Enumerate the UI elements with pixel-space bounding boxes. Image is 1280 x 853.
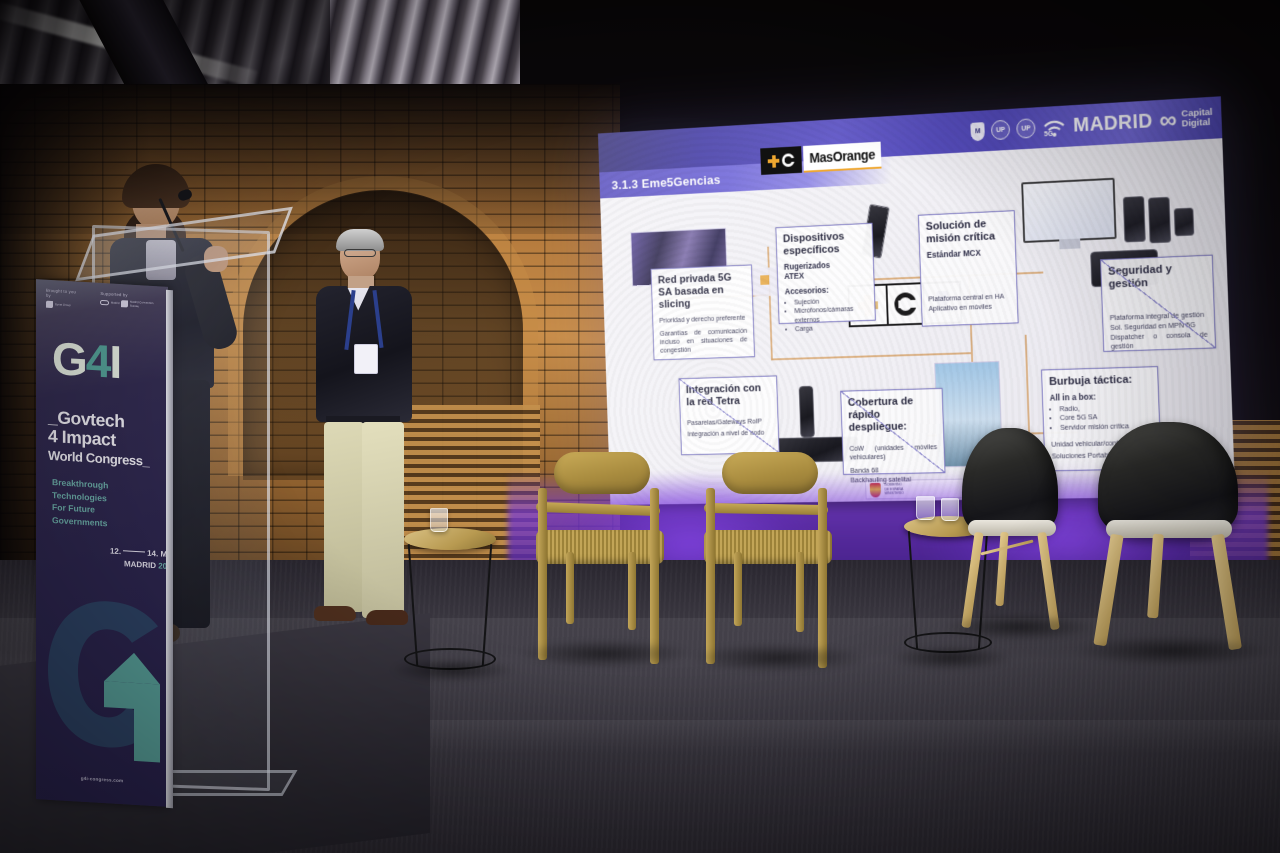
box-mision-critica: Solución de misión crítica Estándar MCX … [918, 210, 1019, 327]
box-title: Cobertura de rápido despliegue: [848, 395, 937, 435]
date-dash [123, 550, 145, 552]
handset-image-1 [1123, 196, 1146, 242]
badge [354, 344, 378, 374]
box-body-3: Dispatcher o consola de gestión [1110, 330, 1208, 351]
box-sub-2: ATEX [784, 268, 867, 281]
box-sub-3: Accesorios: [785, 283, 868, 296]
chair-shadow [1078, 636, 1268, 666]
ring-icon [894, 292, 917, 316]
box-body-1: CoW (unidades móviles vehiculares) [849, 442, 937, 461]
banner-date-block: 12.14. May MADRID 2025 [80, 544, 168, 574]
connector-line [771, 352, 971, 360]
sponsor-2-name: Madrid [111, 301, 120, 305]
chair-leg [628, 552, 636, 630]
ring-icon [782, 153, 795, 167]
box-tetra: Integración con la red Tetra Pasarelas/G… [679, 375, 780, 455]
person-shoe [314, 606, 356, 621]
box-title: Integración con la red Tetra [686, 382, 771, 409]
slide-title: 3.1.3 Eme5Gencias [611, 172, 720, 192]
banner-right-edge [166, 290, 173, 808]
wifi-5g-icon: 5G [1042, 116, 1067, 137]
connector-line [1025, 335, 1030, 433]
chair-shadow [690, 644, 865, 672]
event-banner: Brought to you by Bynet Group Supported … [36, 279, 168, 807]
madrid-wordmark: MADRID [1073, 110, 1153, 137]
university-seal-icon-2: UP [1016, 118, 1036, 139]
sponsor-logo-2: Madrid Madrid Convention Bureau [100, 299, 161, 310]
g-monogram-icon [42, 585, 168, 771]
chair-backrest [722, 452, 818, 494]
chair-leg [538, 488, 547, 660]
box-body-1: Prioridad y derecho preferente [659, 313, 747, 325]
plus-icon [768, 155, 780, 168]
infinity-icon [100, 300, 109, 306]
tetra-radio-image [799, 386, 815, 438]
box-body-2: Aplicativo en móviles [928, 301, 1010, 313]
sponsor-1-name: Bynet Group [55, 303, 71, 307]
chair-seat [704, 530, 832, 564]
chair-shadow [944, 614, 1094, 640]
madrid-shield-icon-1: M [970, 122, 985, 141]
box-body-2: Garantías de comunicación incluso en sit… [660, 326, 748, 354]
g4i-logo: G4I [52, 332, 162, 391]
chair-leg [706, 488, 715, 664]
box-title: Seguridad y gestión [1108, 262, 1206, 292]
banner-city: MADRID [124, 559, 156, 570]
date-end: 14. May [147, 549, 168, 560]
connector-line [767, 247, 773, 361]
dispatcher-monitor-image [1021, 178, 1116, 243]
supported-by-label: Supported by [100, 291, 161, 300]
chair-leg [734, 552, 742, 626]
banner-credits: Brought to you by Bynet Group Supported … [46, 288, 161, 315]
banner-tagline: Breakthrough Technologies For Future Gov… [52, 476, 164, 533]
banner-title: _Govtech 4 Impact World Congress_ [48, 408, 168, 472]
water-glass-right-2 [941, 498, 959, 521]
capital-digital-logo: ∞ Capital Digital [1159, 108, 1213, 131]
box-title: Solución de misión crítica [926, 217, 1009, 246]
chair-backrest [554, 452, 650, 494]
chair-leg [796, 552, 804, 632]
chair-leg [566, 552, 574, 624]
person-trouser-leg [324, 422, 364, 612]
box-title: Red privada 5G SA basada en slicing [658, 271, 747, 311]
university-seal-icon-1: UP [991, 120, 1010, 141]
masorange-wordmark: MasOrange [803, 142, 882, 173]
box-red-privada: Red privada 5G SA basada en slicing Prio… [651, 264, 755, 360]
sponsor-logo-1: Bynet Group [46, 301, 80, 310]
ring-cell [886, 284, 924, 324]
wifi-5g-label: 5G [1044, 131, 1053, 138]
person-shoe [366, 610, 408, 625]
banner-website-url: g4i-congress.com [36, 773, 168, 786]
person-hair [336, 229, 384, 251]
box-sub-1: All in a box: [1049, 390, 1151, 403]
chair-seat [536, 530, 664, 564]
masorange-logo-mark [760, 146, 802, 175]
conference-stage-photo: M UP UP 5G MADRID ∞ Capital Digit [0, 0, 1280, 853]
infinity-icon: ∞ [1159, 111, 1177, 130]
chair-leg [818, 488, 827, 668]
standing-speaker [300, 232, 430, 612]
bynet-icon [46, 301, 53, 308]
chair-shadow [520, 640, 690, 668]
box-title: Dispositivos específicos [783, 230, 867, 259]
person-trouser-leg [362, 422, 404, 618]
box-body-2: Integración a nivel de nodo [687, 428, 772, 438]
eyeglasses-icon [344, 249, 376, 257]
sponsor-3-name: Madrid Convention Bureau [130, 301, 161, 309]
box-dispositivos: Dispositivos específicos Rugerizados ATE… [775, 223, 875, 324]
date-start: 12. [110, 546, 121, 556]
box-seguridad: Seguridad y gestión Plataforma integral … [1100, 255, 1216, 352]
box-cobertura: Cobertura de rápido despliegue: CoW (uni… [840, 388, 945, 475]
box-item: Carga [795, 322, 869, 334]
handset-image-2 [1148, 197, 1171, 244]
box-sub-1: Estándar MCX [927, 247, 1009, 260]
shield-icon [121, 300, 128, 307]
logo-digit-4: 4 [86, 334, 110, 387]
chair-armrest [704, 503, 828, 515]
accessory-image [1174, 208, 1195, 237]
box-body-1: Pasarelas/Gateways RoIP [687, 416, 772, 427]
logo-letter-g: G [52, 332, 86, 386]
brought-to-you-by-label: Brought to you by [46, 288, 80, 300]
table-shadow [892, 646, 1010, 670]
water-glass-left [430, 508, 448, 532]
water-glass-right-1 [916, 496, 935, 520]
person-hair-top [122, 164, 190, 208]
capital-digital-line2: Digital [1182, 118, 1213, 130]
table-shadow [392, 658, 512, 682]
logo-letter-i: I [109, 335, 120, 388]
box-title: Burbuja táctica: [1049, 373, 1151, 389]
chair-leg [650, 488, 659, 664]
